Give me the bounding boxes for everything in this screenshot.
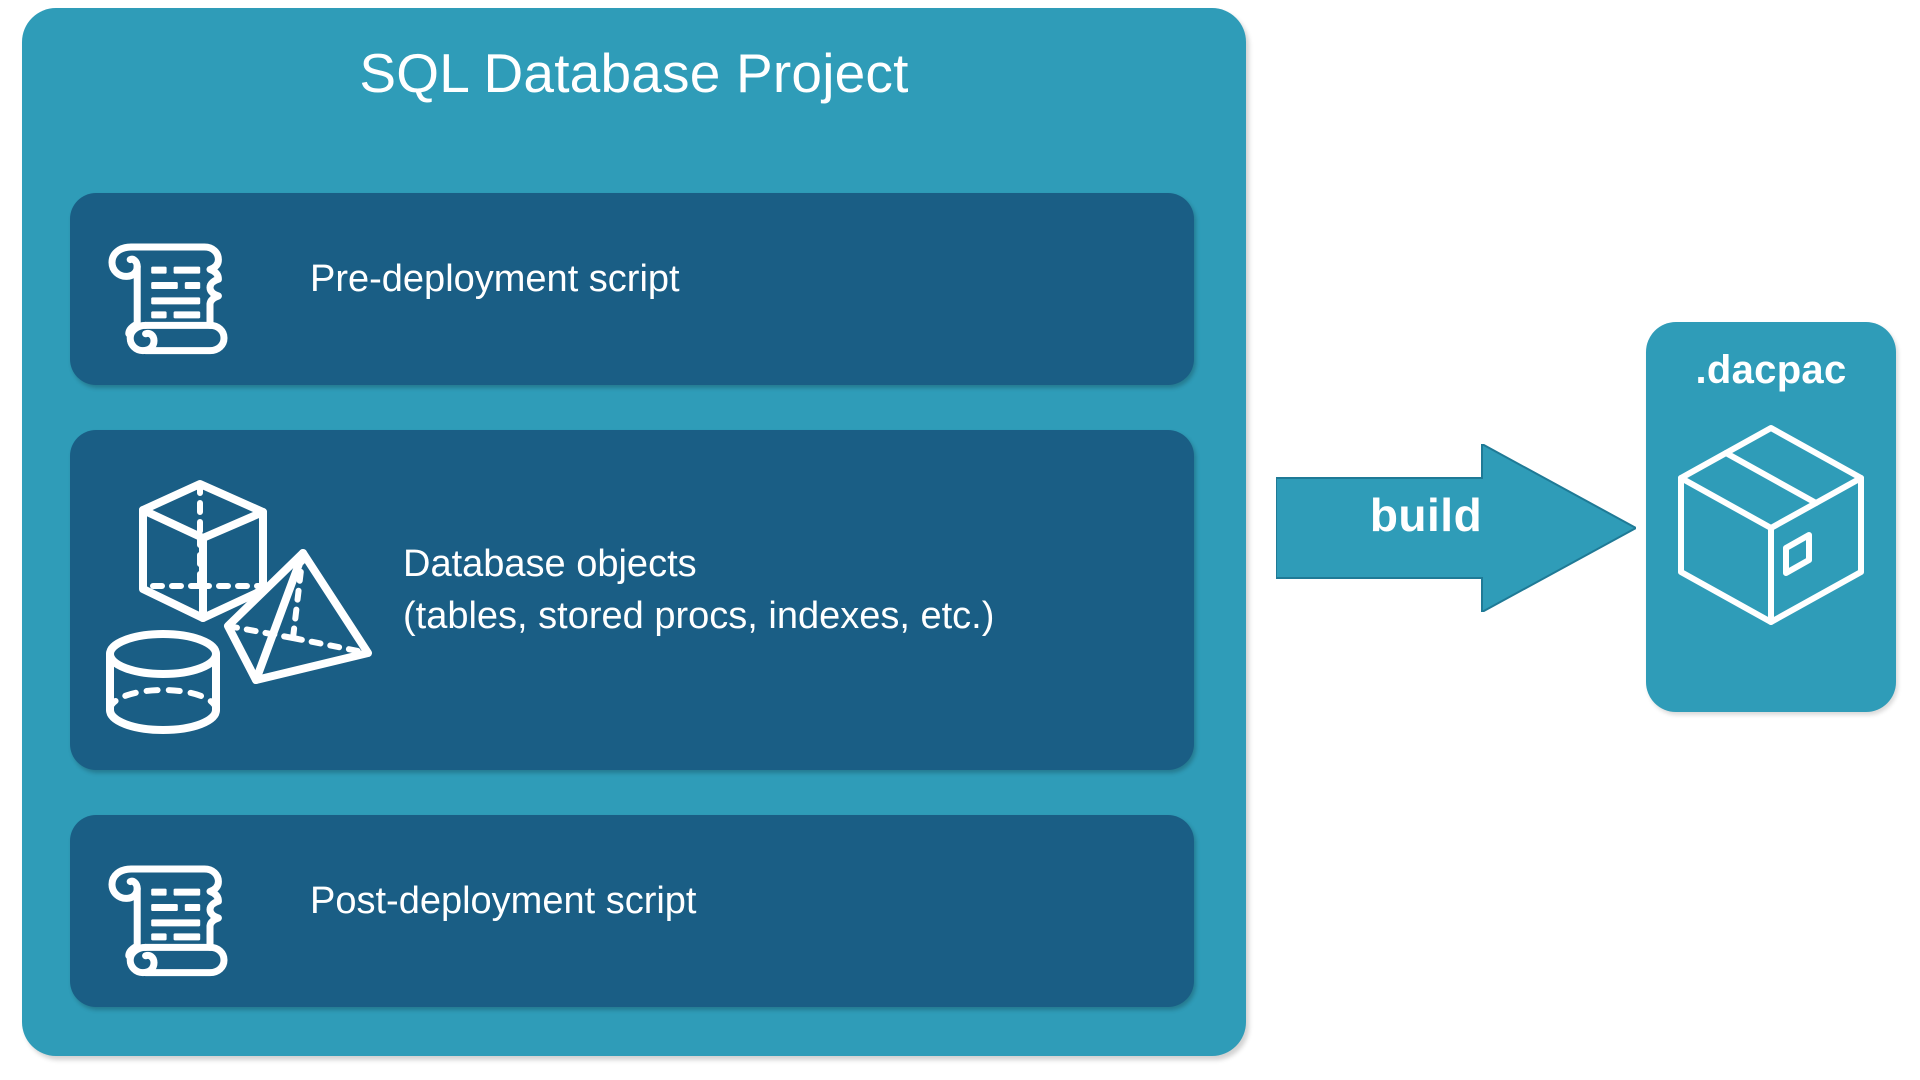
pyramid-icon (228, 553, 368, 680)
card-database-objects-label: Database objects (tables, stored procs, … (403, 538, 994, 643)
dacpac-output-panel: .dacpac (1646, 322, 1896, 712)
project-panel-title: SQL Database Project (22, 43, 1246, 104)
cube-icon (143, 484, 263, 618)
package-box-icon (1671, 420, 1871, 630)
diagram-canvas: SQL Database Project (0, 0, 1920, 1080)
sql-database-project-panel: SQL Database Project (22, 8, 1246, 1056)
scroll-icon (98, 219, 238, 359)
card-pre-deployment[interactable]: Pre-deployment script (70, 193, 1194, 385)
scroll-icon (98, 841, 238, 981)
cylinder-icon (110, 634, 216, 730)
dacpac-title: .dacpac (1646, 350, 1896, 390)
build-arrow-label: build (1316, 492, 1536, 538)
card-pre-deployment-label: Pre-deployment script (310, 253, 680, 305)
card-post-deployment[interactable]: Post-deployment script (70, 815, 1194, 1007)
database-objects-icon-group (88, 458, 388, 748)
card-post-deployment-label: Post-deployment script (310, 875, 697, 927)
card-database-objects[interactable]: Database objects (tables, stored procs, … (70, 430, 1194, 770)
